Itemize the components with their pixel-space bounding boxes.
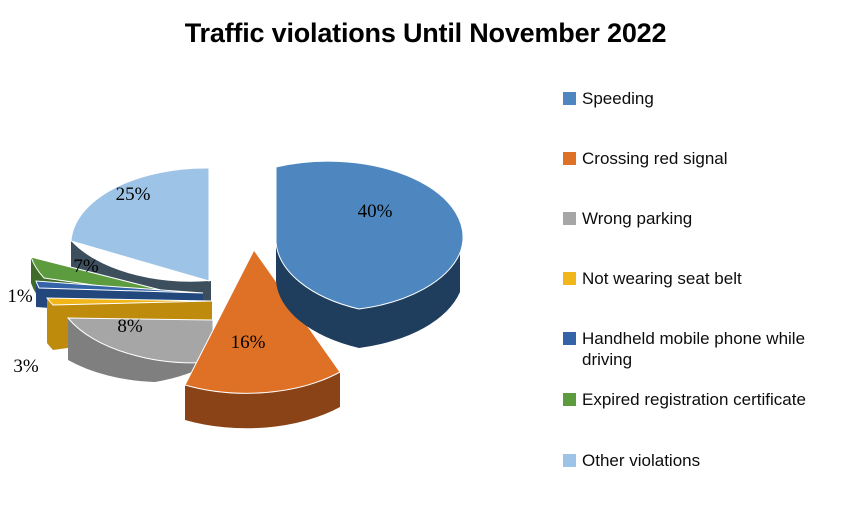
legend-label-handheld-mobile-phone: Handheld mobile phone while driving — [582, 328, 805, 370]
legend-swatch-wrong-parking — [563, 212, 576, 225]
legend-item-crossing-red-signal[interactable]: Crossing red signal — [563, 148, 851, 169]
pie-chart-figure: Traffic violations Until November 2022 — [0, 0, 851, 514]
slice-label-expired-registration: 7% — [73, 256, 99, 277]
legend-label-other-violations: Other violations — [582, 450, 700, 471]
legend-item-not-wearing-seat-belt[interactable]: Not wearing seat belt — [563, 268, 851, 289]
slice-label-crossing-red-signal: 16% — [231, 332, 266, 353]
legend-swatch-speeding — [563, 92, 576, 105]
legend-swatch-not-wearing-seat-belt — [563, 272, 576, 285]
chart-title: Traffic violations Until November 2022 — [0, 18, 851, 49]
legend-swatch-expired-registration — [563, 393, 576, 406]
slice-not-wearing-seat-belt-side — [47, 298, 53, 350]
slice-label-not-wearing-seat-belt: 3% — [13, 356, 39, 377]
slice-label-handheld-mobile-phone: 1% — [7, 286, 33, 307]
legend-item-wrong-parking[interactable]: Wrong parking — [563, 208, 851, 229]
legend-label-not-wearing-seat-belt: Not wearing seat belt — [582, 268, 742, 289]
legend-swatch-other-violations — [563, 454, 576, 467]
legend-swatch-handheld-mobile-phone — [563, 332, 576, 345]
legend-label-expired-registration: Expired registration certificate — [582, 389, 806, 410]
pie-plot-area: 40% 16% 8% 3% 1% 7% 25% — [0, 60, 560, 514]
legend-item-speeding[interactable]: Speeding — [563, 88, 851, 109]
slice-label-other-violations: 25% — [116, 184, 151, 205]
legend-item-handheld-mobile-phone[interactable]: Handheld mobile phone while driving — [563, 328, 851, 370]
slice-speeding[interactable] — [276, 161, 463, 348]
legend-swatch-crossing-red-signal — [563, 152, 576, 165]
chart-legend: Speeding Crossing red signal Wrong parki… — [563, 88, 851, 498]
slice-label-speeding: 40% — [358, 201, 393, 222]
pie-chart-svg: 40% 16% 8% 3% 1% 7% 25% — [0, 60, 560, 514]
legend-item-expired-registration[interactable]: Expired registration certificate — [563, 389, 851, 410]
legend-label-speeding: Speeding — [582, 88, 654, 109]
slice-label-wrong-parking: 8% — [117, 316, 143, 337]
legend-item-other-violations[interactable]: Other violations — [563, 450, 851, 471]
legend-label-wrong-parking: Wrong parking — [582, 208, 692, 229]
legend-label-crossing-red-signal: Crossing red signal — [582, 148, 728, 169]
